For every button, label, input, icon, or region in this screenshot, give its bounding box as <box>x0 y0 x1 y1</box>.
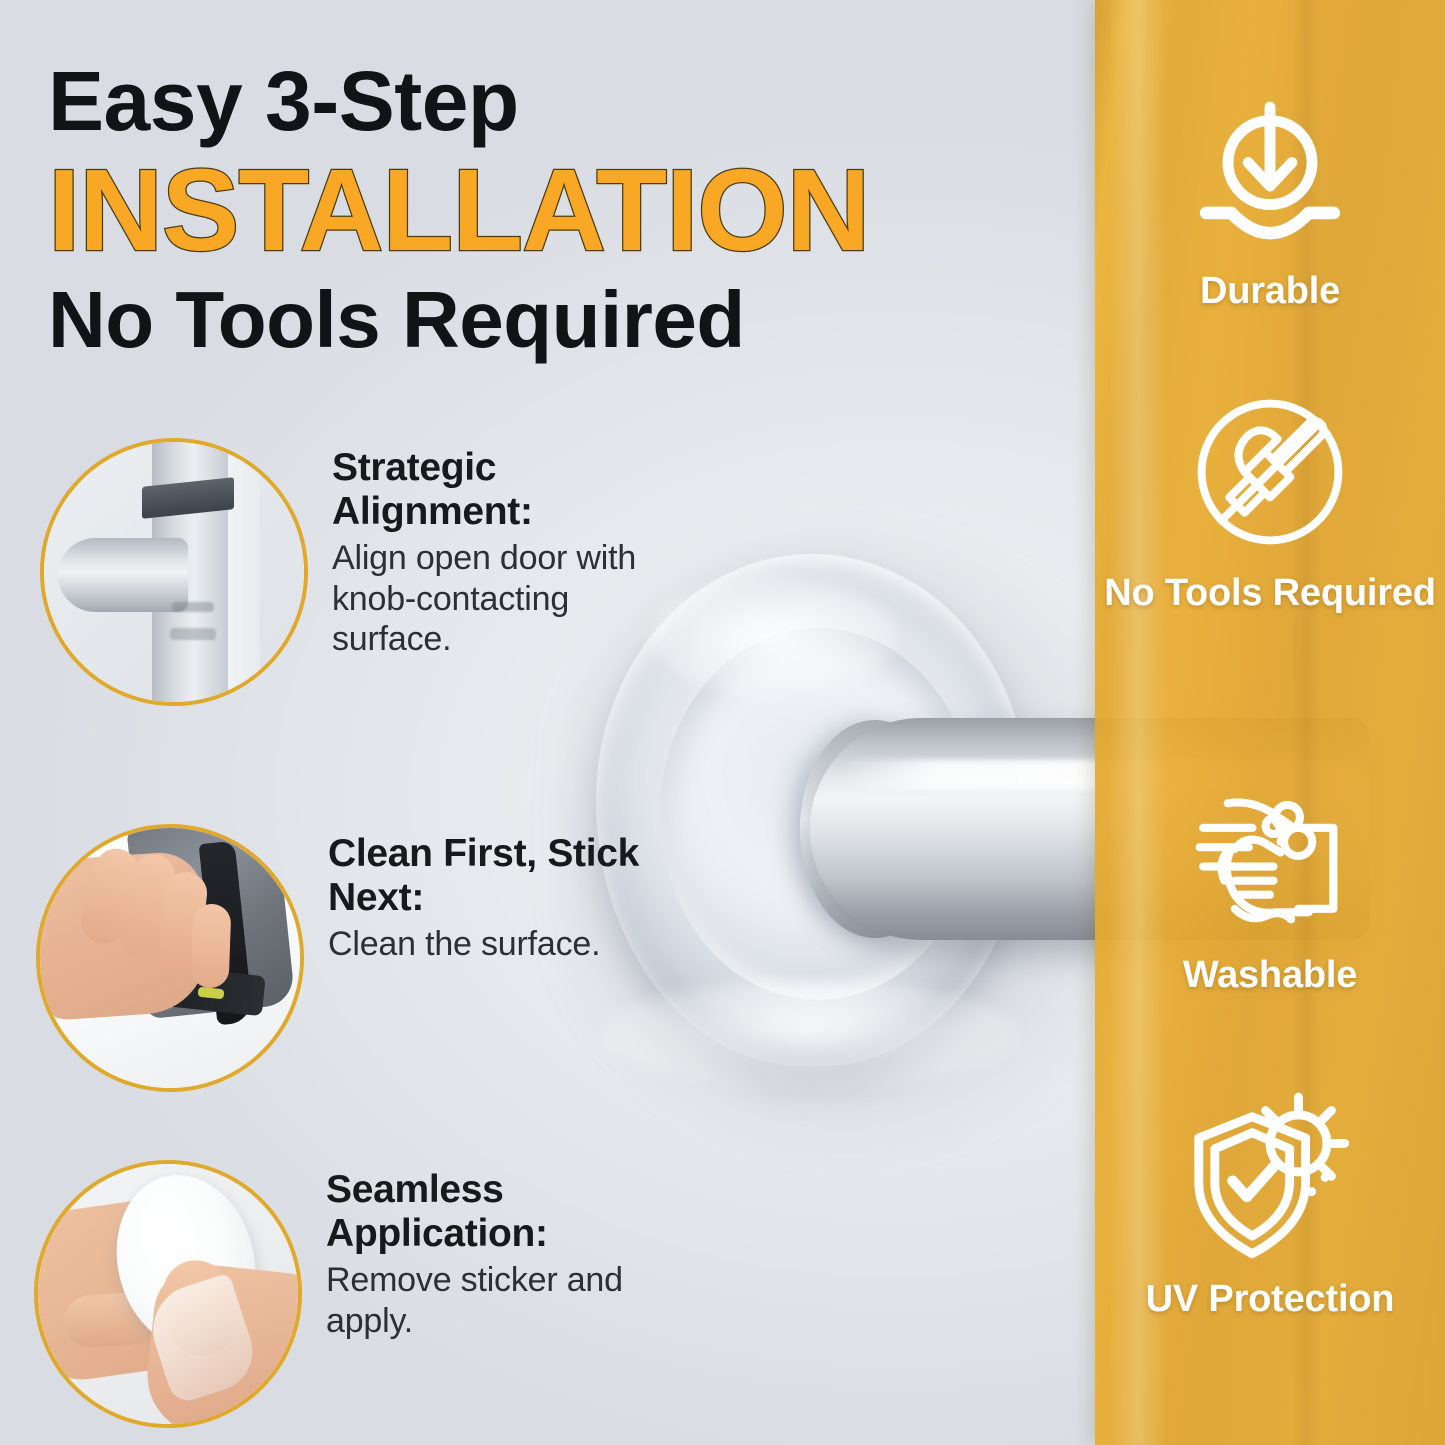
headline-line-1: Easy 3-Step <box>48 60 1058 142</box>
feature-label: UV Protection <box>1146 1278 1395 1321</box>
shield-sun-icon <box>1175 1090 1365 1268</box>
headline-line-2: INSTALLATION <box>48 152 1058 268</box>
step-2-thumbnail <box>36 824 304 1092</box>
step-3-description: Remove sticker and apply. <box>326 1260 656 1341</box>
step-2-title: Clean First, Stick Next: <box>328 832 658 920</box>
no-hammer-icon <box>1180 382 1360 562</box>
feature-item: Washable <box>1095 768 1445 997</box>
step-item: Seamless Application: Remove sticker and… <box>34 1160 656 1428</box>
step-3-thumbnail <box>34 1160 302 1428</box>
hand-washing-icon <box>1182 768 1358 944</box>
hand-wiping-cloth-photo <box>40 828 300 1088</box>
feature-item: Durable <box>1095 92 1445 313</box>
product-infographic: Easy 3-Step INSTALLATION No Tools Requir… <box>0 0 1445 1445</box>
headline-line-3: No Tools Required <box>48 280 1058 360</box>
step-3-title: Seamless Application: <box>326 1168 656 1256</box>
feature-label: No Tools Required <box>1104 572 1436 615</box>
step-1-description: Align open door with knob-contacting sur… <box>332 538 662 659</box>
step-item: Clean First, Stick Next: Clean the surfa… <box>36 824 658 1092</box>
feature-item: UV Protection <box>1095 1090 1445 1321</box>
feature-item: No Tools Required <box>1095 382 1445 615</box>
step-2-text: Clean First, Stick Next: Clean the surfa… <box>328 824 658 965</box>
headline-block: Easy 3-Step INSTALLATION No Tools Requir… <box>48 60 1058 360</box>
door-latch-photo <box>44 442 304 702</box>
step-item: Strategic Alignment: Align open door wit… <box>40 438 662 706</box>
features-panel: Durable No Tools Required <box>1095 0 1445 1445</box>
feature-label: Washable <box>1183 954 1357 997</box>
bumper-rim-glow <box>600 980 1020 1090</box>
hands-peeling-sticker-photo <box>38 1164 298 1424</box>
step-2-description: Clean the surface. <box>328 924 658 964</box>
bumper-highlight <box>648 576 898 696</box>
feature-label: Durable <box>1200 270 1340 313</box>
impact-arrow-icon <box>1186 92 1354 260</box>
step-1-thumbnail <box>40 438 308 706</box>
step-1-title: Strategic Alignment: <box>332 446 662 534</box>
step-1-text: Strategic Alignment: Align open door wit… <box>332 438 662 659</box>
step-3-text: Seamless Application: Remove sticker and… <box>326 1160 656 1341</box>
